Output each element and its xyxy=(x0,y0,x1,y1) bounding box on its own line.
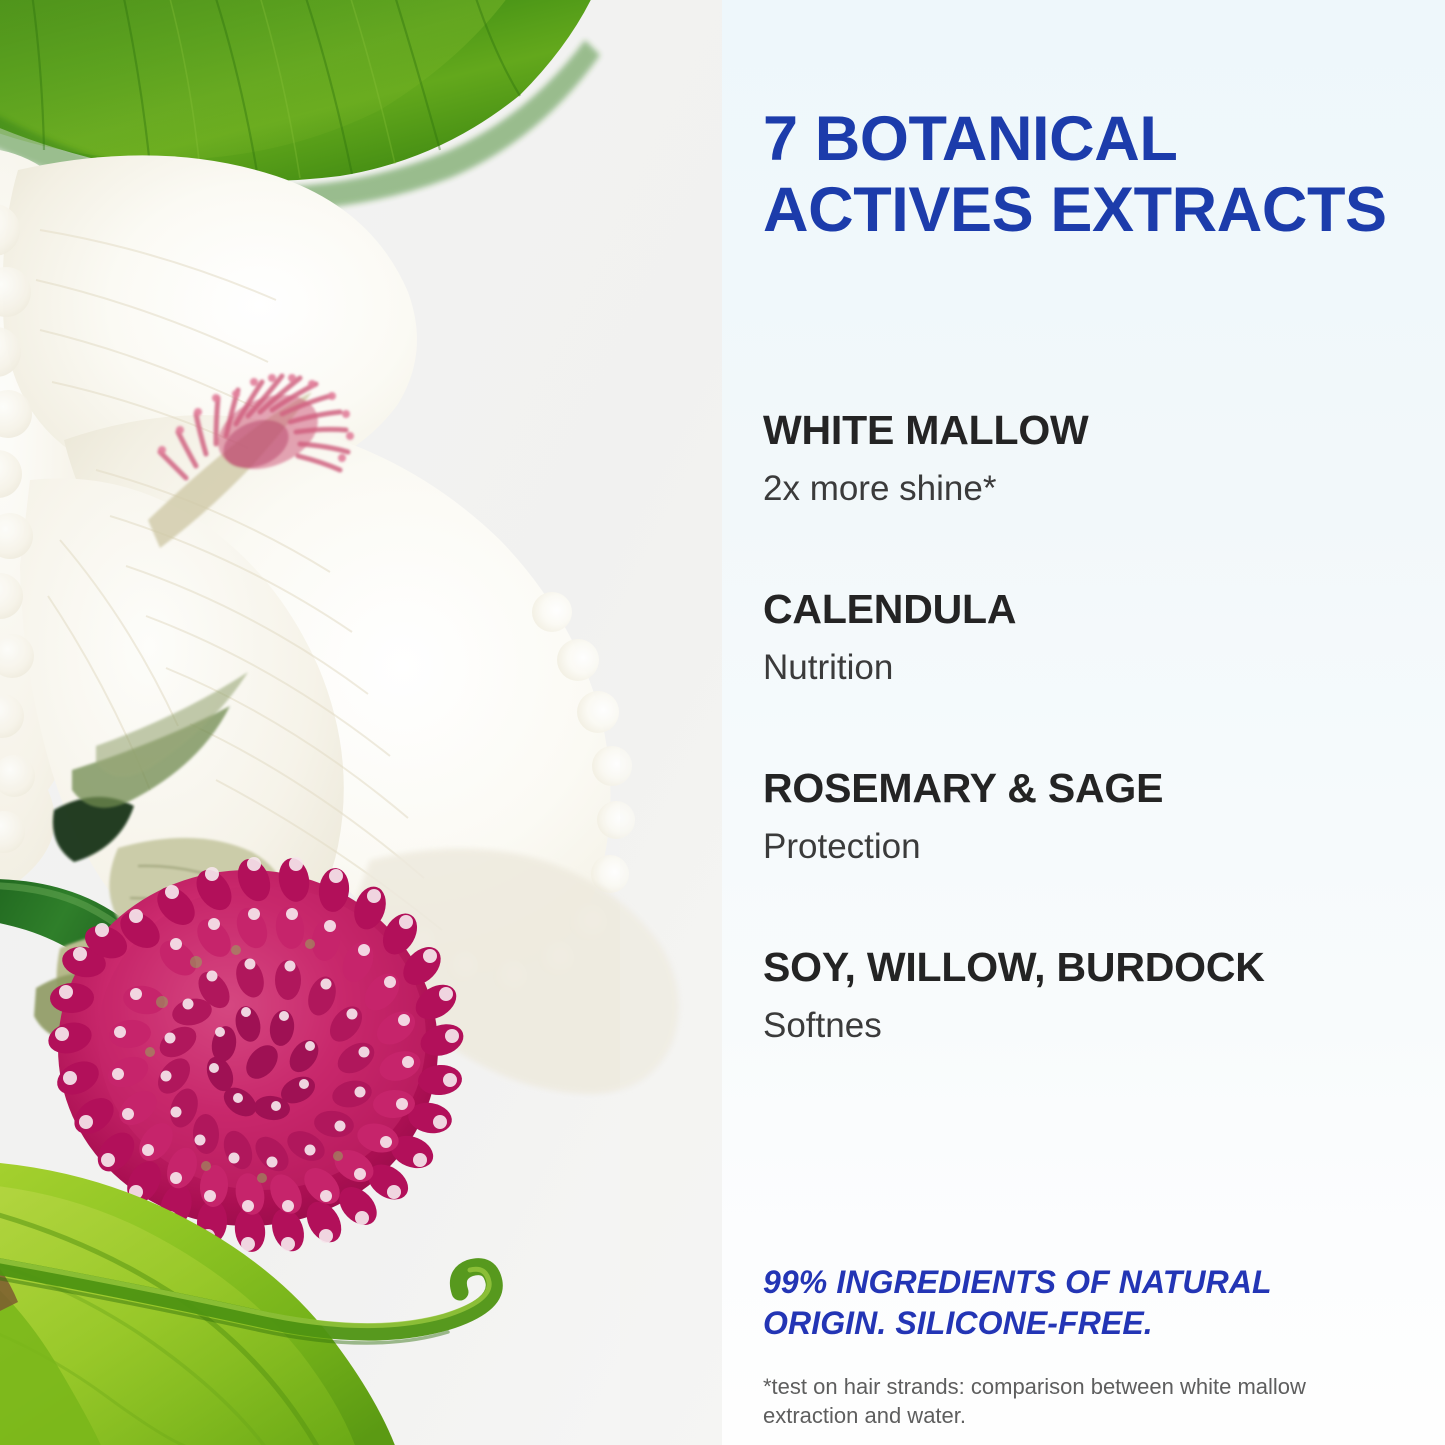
natural-origin-claim: 99% INGREDIENTS OF NATURAL ORIGIN. SILIC… xyxy=(763,1262,1425,1344)
claim-line-1: 99% INGREDIENTS OF NATURAL xyxy=(763,1262,1425,1303)
botanical-photo xyxy=(0,0,722,1445)
headline-line-2: ACTIVES EXTRACTS xyxy=(763,175,1427,246)
active-benefit: 2x more shine* xyxy=(763,468,1435,510)
product-info-graphic: 7 BOTANICAL ACTIVES EXTRACTS WHITE MALLO… xyxy=(0,0,1445,1445)
claim-line-2: ORIGIN. SILICONE-FREE. xyxy=(763,1303,1425,1344)
footnote-disclaimer: *test on hair strands: comparison betwee… xyxy=(763,1372,1427,1430)
active-item-soy-willow-burdock: SOY, WILLOW, BURDOCK Softnes xyxy=(763,945,1435,1047)
active-benefit: Softnes xyxy=(763,1005,1435,1047)
botanical-actives-list: WHITE MALLOW 2x more shine* CALENDULA Nu… xyxy=(763,408,1435,1047)
active-item-white-mallow: WHITE MALLOW 2x more shine* xyxy=(763,408,1435,510)
info-panel: 7 BOTANICAL ACTIVES EXTRACTS WHITE MALLO… xyxy=(722,0,1445,1445)
footnote-line-2: extraction and water. xyxy=(763,1401,1427,1430)
active-item-rosemary-sage: ROSEMARY & SAGE Protection xyxy=(763,766,1435,868)
botanical-illustration xyxy=(0,0,722,1445)
active-benefit: Nutrition xyxy=(763,647,1435,689)
page-title: 7 BOTANICAL ACTIVES EXTRACTS xyxy=(763,104,1427,246)
headline-line-1: 7 BOTANICAL xyxy=(763,104,1427,175)
active-benefit: Protection xyxy=(763,826,1435,868)
active-name: SOY, WILLOW, BURDOCK xyxy=(763,945,1435,991)
active-name: WHITE MALLOW xyxy=(763,408,1435,454)
active-name: CALENDULA xyxy=(763,587,1435,633)
active-item-calendula: CALENDULA Nutrition xyxy=(763,587,1435,689)
active-name: ROSEMARY & SAGE xyxy=(763,766,1435,812)
footnote-line-1: *test on hair strands: comparison betwee… xyxy=(763,1372,1427,1401)
